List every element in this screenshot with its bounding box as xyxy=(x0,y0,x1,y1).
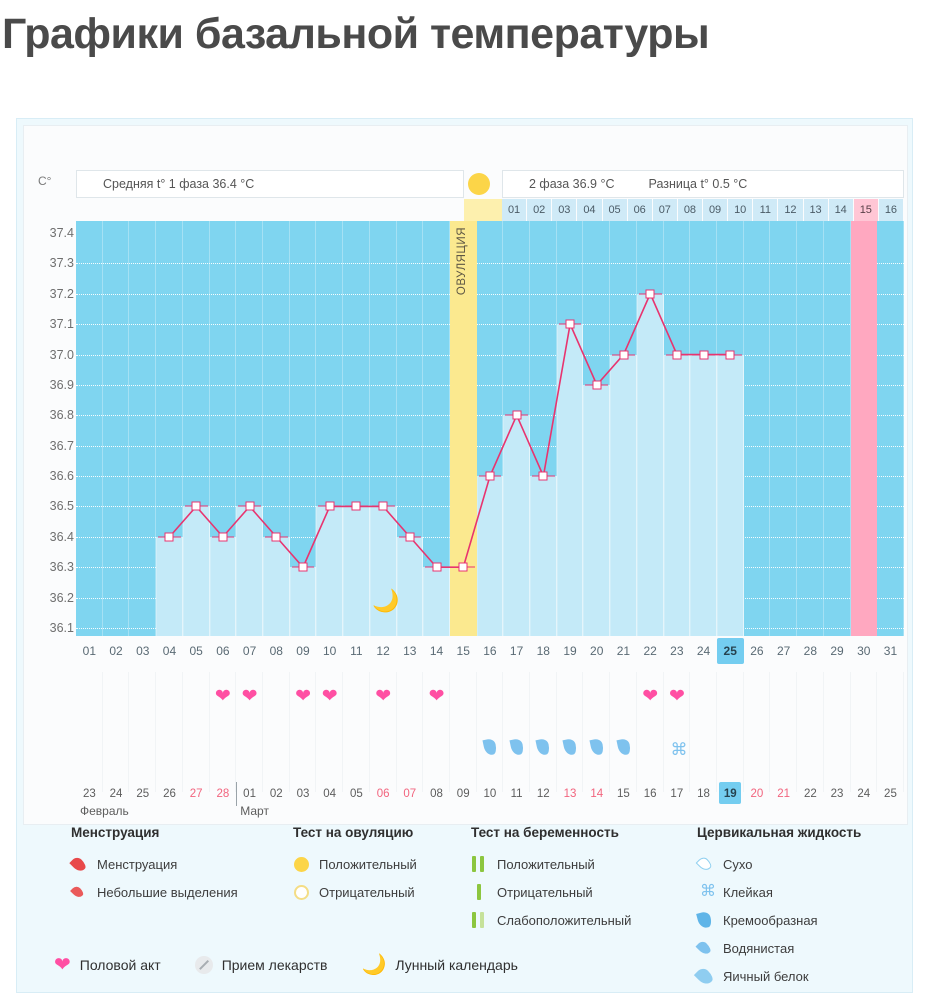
calendar-date-label[interactable]: 27 xyxy=(183,784,210,804)
y-axis-tick: 36.4 xyxy=(34,530,74,544)
y-axis-tick: 37.4 xyxy=(34,226,74,240)
cycle-day-label[interactable]: 30 xyxy=(850,638,877,664)
cycle-day-label[interactable]: 10 xyxy=(316,638,343,664)
legend-label: Клейкая xyxy=(723,885,773,900)
phase2-day: 02 xyxy=(527,199,552,221)
y-axis-tick: 36.7 xyxy=(34,439,74,453)
phase2-day: 04 xyxy=(577,199,602,221)
cycle-day-label[interactable]: 13 xyxy=(396,638,423,664)
chart-card: C° 37.437.337.237.137.036.936.836.736.63… xyxy=(16,118,913,993)
phase2-day: 03 xyxy=(552,199,577,221)
y-axis-tick: 36.5 xyxy=(34,499,74,513)
data-point-marker xyxy=(646,289,655,298)
intercourse-marker: ❤ xyxy=(290,682,316,713)
y-axis-unit-label: C° xyxy=(38,174,51,188)
intercourse-marker: ❤ xyxy=(317,682,343,713)
small-blood-drop-icon xyxy=(71,886,97,898)
calendar-date-label[interactable]: 09 xyxy=(450,784,477,804)
calendar-date-label[interactable]: 11 xyxy=(503,784,530,804)
data-point-marker xyxy=(218,532,227,541)
intercourse-marker: ❤ xyxy=(664,682,690,713)
legend-label: Отрицательный xyxy=(497,885,593,900)
calendar-date-label[interactable]: 07 xyxy=(396,784,423,804)
legend-label: Лунный календарь xyxy=(395,957,518,973)
cycle-day-label[interactable]: 04 xyxy=(156,638,183,664)
calendar-date-label[interactable]: 04 xyxy=(316,784,343,804)
cycle-day-label[interactable]: 21 xyxy=(610,638,637,664)
calendar-date-label[interactable]: 25 xyxy=(877,784,904,804)
cycle-day-label[interactable]: 15 xyxy=(450,638,477,664)
phase2-day: 15 xyxy=(854,199,879,221)
ovulation-dot-icon xyxy=(468,173,490,195)
cervical-fluid-marker xyxy=(557,736,583,766)
data-point-marker xyxy=(539,472,548,481)
data-point-marker xyxy=(619,350,628,359)
calendar-date-label[interactable]: 06 xyxy=(370,784,397,804)
phase2-day: 10 xyxy=(728,199,753,221)
legend-item-cf-creamy: Кремообразная xyxy=(697,906,912,934)
y-axis-tick: 36.6 xyxy=(34,469,74,483)
legend-label: Менструация xyxy=(97,857,177,872)
intercourse-marker: ❤ xyxy=(370,682,396,713)
legend-label: Слабоположительный xyxy=(497,913,631,928)
green-bar-plus-pale-bar-icon xyxy=(471,912,497,928)
phase2-day: 07 xyxy=(653,199,678,221)
phase2-day-strip: 01020304050607080910111213141516 xyxy=(502,199,904,221)
y-axis-tick: 36.1 xyxy=(34,621,74,635)
data-point-marker xyxy=(379,502,388,511)
calendar-date-label[interactable]: 15 xyxy=(610,784,637,804)
cycle-day-label[interactable]: 25 xyxy=(717,638,744,664)
legend-item-preg-negative: Отрицательный xyxy=(471,878,691,906)
phase2-day: 14 xyxy=(829,199,854,221)
y-axis-tick: 36.9 xyxy=(34,378,74,392)
legend-item-ovu-positive: Положительный xyxy=(293,850,465,878)
cycle-day-label[interactable]: 20 xyxy=(583,638,610,664)
calendar-date-label[interactable]: 14 xyxy=(583,784,610,804)
data-point-marker xyxy=(432,563,441,572)
phase-header-bar: Средняя t° 1 фаза 36.4 °C 2 фаза 36.9 °C… xyxy=(76,170,904,198)
calendar-date-label[interactable]: 10 xyxy=(477,784,504,804)
cervical-fluid-marker xyxy=(477,736,503,766)
legend-item-lunar-calendar: 🌙 Лунный календарь xyxy=(361,955,517,975)
cycle-day-label[interactable]: 27 xyxy=(770,638,797,664)
symbol-rows-area: ❤❤❤❤❤❤❤❤ ⌘ xyxy=(76,672,904,792)
pill-icon xyxy=(195,956,213,974)
calendar-date-label[interactable]: 19 xyxy=(717,784,744,804)
y-axis-tick: 37.1 xyxy=(34,317,74,331)
month-name-labels: ФевральМарт xyxy=(76,804,904,822)
calendar-date-label[interactable]: 26 xyxy=(156,784,183,804)
calendar-date-label[interactable]: 03 xyxy=(290,784,317,804)
moon-icon: 🌙 xyxy=(361,955,386,975)
data-point-marker xyxy=(272,532,281,541)
data-point-marker xyxy=(699,350,708,359)
phase2-day: 13 xyxy=(804,199,829,221)
legend-label: Положительный xyxy=(319,857,417,872)
cycle-day-label[interactable]: 29 xyxy=(824,638,851,664)
phase2-day: 06 xyxy=(628,199,653,221)
calendar-date-label[interactable]: 21 xyxy=(770,784,797,804)
legend-item-preg-weak: Слабоположительный xyxy=(471,906,691,934)
legend-title-cervical-fluid: Цервикальная жидкость xyxy=(697,825,912,840)
month-name: Февраль xyxy=(80,804,129,818)
cervical-fluid-row: ⌘ xyxy=(76,736,904,770)
cycle-day-label[interactable]: 12 xyxy=(370,638,397,664)
cervical-fluid-marker xyxy=(611,736,637,766)
legend-item-menstruation: Менструация xyxy=(71,850,289,878)
intercourse-marker: ❤ xyxy=(210,682,236,713)
legend-item-cf-eggwhite: Яичный белок xyxy=(697,962,912,990)
data-point-marker xyxy=(486,472,495,481)
temperature-plot: ОВУЛЯЦИЯ🌙 xyxy=(76,221,904,636)
phase1-box: Средняя t° 1 фаза 36.4 °C xyxy=(76,170,464,198)
y-axis-tick: 36.8 xyxy=(34,408,74,422)
yellow-filled-circle-icon xyxy=(293,857,319,872)
y-axis-tick: 36.2 xyxy=(34,591,74,605)
cycle-day-label[interactable]: 06 xyxy=(210,638,237,664)
legend-item-spotting: Небольшие выделения xyxy=(71,878,289,906)
legend-label: Сухо xyxy=(723,857,752,872)
legend-label: Яичный белок xyxy=(723,969,809,984)
phase2-day: 12 xyxy=(778,199,803,221)
y-axis-tick: 37.3 xyxy=(34,256,74,270)
calendar-date-label[interactable]: 28 xyxy=(210,784,237,804)
cycle-day-label[interactable]: 14 xyxy=(423,638,450,664)
yellow-outline-circle-icon xyxy=(293,885,319,900)
legend-column-pregnancy-test: Тест на беременность Положительный Отриц… xyxy=(471,825,691,934)
data-point-marker xyxy=(459,563,468,572)
y-axis-tick: 36.3 xyxy=(34,560,74,574)
egg-white-drop-icon xyxy=(697,968,723,985)
cervical-fluid-marker xyxy=(584,736,610,766)
phase2-box: 2 фаза 36.9 °C Разница t° 0.5 °C xyxy=(502,170,904,198)
data-point-marker xyxy=(592,380,601,389)
cycle-day-label[interactable]: 18 xyxy=(530,638,557,664)
temperature-line xyxy=(76,221,904,636)
legend-column-cervical-fluid: Цервикальная жидкость Сухо ⌘ Клейкая Кре… xyxy=(697,825,912,990)
phase2-difference-label: Разница t° 0.5 °C xyxy=(649,177,748,191)
data-point-marker xyxy=(512,411,521,420)
month-name: Март xyxy=(240,804,269,818)
legend-column-menstruation: Менструация Менструация Небольшие выделе… xyxy=(71,825,289,906)
phase2-day: 05 xyxy=(603,199,628,221)
legend-item-medication: Прием лекарств xyxy=(195,956,328,974)
cycle-day-label[interactable]: 22 xyxy=(637,638,664,664)
one-green-bar-icon xyxy=(471,884,497,900)
intercourse-marker: ❤ xyxy=(637,682,663,713)
calendar-date-label[interactable]: 13 xyxy=(557,784,584,804)
calendar-date-label[interactable]: 22 xyxy=(797,784,824,804)
cycle-day-label[interactable]: 03 xyxy=(129,638,156,664)
cycle-day-axis: 0102030405060708091011121314151617181920… xyxy=(76,638,904,664)
intercourse-marker: ❤ xyxy=(237,682,263,713)
legend-label: Отрицательный xyxy=(319,885,415,900)
calendar-date-label[interactable]: 01 xyxy=(236,784,263,804)
phase2-day: 01 xyxy=(502,199,527,221)
cervical-fluid-marker xyxy=(530,736,556,766)
page-title: Графики базальной температуры xyxy=(0,0,929,57)
data-point-marker xyxy=(405,532,414,541)
legend-item-intercourse: ❤ Половой акт xyxy=(54,955,161,975)
data-point-marker xyxy=(192,502,201,511)
phase2-day: 16 xyxy=(879,199,904,221)
y-axis-tick: 37.0 xyxy=(34,348,74,362)
phase2-average-label: 2 фаза 36.9 °C xyxy=(529,177,615,191)
calendar-date-label[interactable]: 08 xyxy=(423,784,450,804)
calendar-date-axis: 2324252627280102030405060708091011121314… xyxy=(76,784,904,804)
two-green-bars-icon xyxy=(471,856,497,872)
calendar-date-label[interactable]: 24 xyxy=(103,784,130,804)
plot-area: Средняя t° 1 фаза 36.4 °C 2 фаза 36.9 °C… xyxy=(76,170,904,636)
cycle-day-label[interactable]: 23 xyxy=(663,638,690,664)
calendar-date-label[interactable]: 02 xyxy=(263,784,290,804)
chart-inner-panel: C° 37.437.337.237.137.036.936.836.736.63… xyxy=(23,125,908,825)
legend-title-ovulation-test: Тест на овуляцию xyxy=(293,825,465,840)
calendar-date-label[interactable]: 20 xyxy=(744,784,771,804)
cycle-day-label[interactable]: 31 xyxy=(877,638,904,664)
cycle-day-label[interactable]: 17 xyxy=(503,638,530,664)
pink-heart-icon: ❤ xyxy=(54,955,71,975)
legend-item-cf-sticky: ⌘ Клейкая xyxy=(697,878,912,906)
drop-outline-icon xyxy=(697,857,723,871)
data-point-marker xyxy=(245,502,254,511)
legend-label: Водянистая xyxy=(723,941,794,956)
phase1-label: Средняя t° 1 фаза 36.4 °C xyxy=(103,177,254,191)
intercourse-marker: ❤ xyxy=(424,682,450,713)
watery-drop-icon xyxy=(697,941,723,955)
ovulation-header-band xyxy=(464,199,502,221)
calendar-date-label[interactable]: 16 xyxy=(637,784,664,804)
cycle-day-label[interactable]: 19 xyxy=(557,638,584,664)
cycle-day-label[interactable]: 02 xyxy=(103,638,130,664)
legend-item-cf-watery: Водянистая xyxy=(697,934,912,962)
blood-drop-icon xyxy=(71,857,97,872)
data-point-marker xyxy=(352,502,361,511)
calendar-date-label[interactable]: 25 xyxy=(129,784,156,804)
legend-item-ovu-negative: Отрицательный xyxy=(293,878,465,906)
phase2-day: 08 xyxy=(678,199,703,221)
data-point-marker xyxy=(672,350,681,359)
legend-item-cf-dry: Сухо xyxy=(697,850,912,878)
intercourse-row: ❤❤❤❤❤❤❤❤ xyxy=(76,682,904,716)
cervical-fluid-marker: ⌘ xyxy=(664,736,690,766)
data-point-marker xyxy=(299,563,308,572)
calendar-date-label[interactable]: 23 xyxy=(824,784,851,804)
calendar-date-label[interactable]: 05 xyxy=(343,784,370,804)
y-axis-tick: 37.2 xyxy=(34,287,74,301)
calendar-date-label[interactable]: 17 xyxy=(663,784,690,804)
cycle-day-label[interactable]: 08 xyxy=(263,638,290,664)
calendar-date-label[interactable]: 23 xyxy=(76,784,103,804)
cervical-fluid-marker xyxy=(504,736,530,766)
data-point-marker xyxy=(325,502,334,511)
data-point-marker xyxy=(566,320,575,329)
legend-item-preg-positive: Положительный xyxy=(471,850,691,878)
hourglass-icon: ⌘ xyxy=(697,884,723,900)
legend-title-pregnancy-test: Тест на беременность xyxy=(471,825,691,840)
legend-title-menstruation: Менструация xyxy=(71,825,289,840)
month-separator xyxy=(236,782,237,806)
legend-label: Кремообразная xyxy=(723,913,818,928)
cycle-day-label[interactable]: 01 xyxy=(76,638,103,664)
data-point-marker xyxy=(726,350,735,359)
cycle-day-label[interactable]: 24 xyxy=(690,638,717,664)
cycle-day-label[interactable]: 28 xyxy=(797,638,824,664)
legend-label: Небольшие выделения xyxy=(97,885,238,900)
legend-label: Половой акт xyxy=(80,957,161,973)
data-point-marker xyxy=(165,532,174,541)
cycle-day-label[interactable]: 05 xyxy=(183,638,210,664)
legend-column-ovulation-test: Тест на овуляцию Положительный Отрицател… xyxy=(293,825,465,906)
phase2-day: 09 xyxy=(703,199,728,221)
legend-label: Прием лекарств xyxy=(222,957,328,973)
calendar-date-label[interactable]: 24 xyxy=(850,784,877,804)
cycle-day-label[interactable]: 26 xyxy=(744,638,771,664)
cycle-day-label[interactable]: 09 xyxy=(290,638,317,664)
legend-bottom-row: ❤ Половой акт Прием лекарств 🌙 Лунный ка… xyxy=(54,955,518,975)
cycle-day-label[interactable]: 16 xyxy=(477,638,504,664)
calendar-date-label[interactable]: 18 xyxy=(690,784,717,804)
legend-label: Положительный xyxy=(497,857,595,872)
creamy-drop-icon xyxy=(697,912,723,928)
cycle-day-label[interactable]: 11 xyxy=(343,638,370,664)
phase2-day: 11 xyxy=(753,199,778,221)
calendar-date-label[interactable]: 12 xyxy=(530,784,557,804)
cycle-day-label[interactable]: 07 xyxy=(236,638,263,664)
